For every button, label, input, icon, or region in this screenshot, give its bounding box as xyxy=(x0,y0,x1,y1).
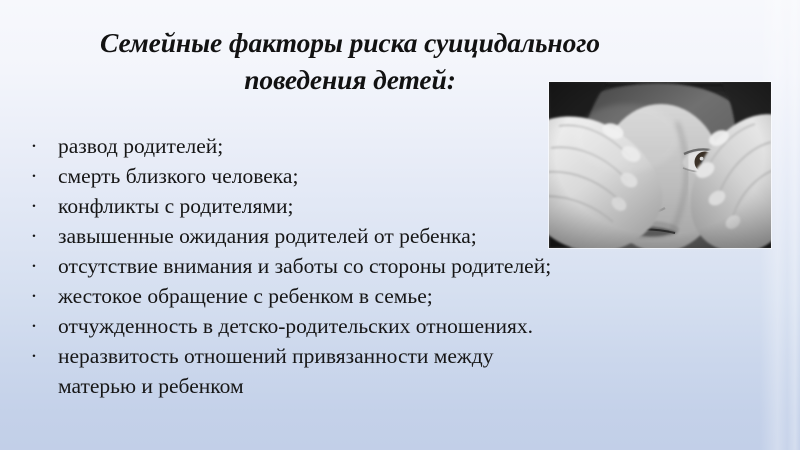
list-item: · жестокое обращение с ребенком в семье; xyxy=(22,281,662,311)
bullet-dot-icon: · xyxy=(29,281,39,311)
child-covering-face-photo xyxy=(549,82,771,248)
bullet-dot-icon: · xyxy=(29,341,39,371)
list-item: · отсутствие внимания и заботы со сторон… xyxy=(22,251,662,281)
list-item: · неразвитость отношений привязанности м… xyxy=(22,341,662,401)
bullet-dot-icon: · xyxy=(29,131,39,161)
list-item-label: конфликты с родителями; xyxy=(58,194,294,218)
bullet-dot-icon: · xyxy=(29,191,39,221)
list-item-label-continuation: матерью и ребенком xyxy=(58,371,662,401)
presentation-slide: Семейные факторы риска суицидального пов… xyxy=(0,0,800,450)
list-item-label: смерть близкого человека; xyxy=(58,164,298,188)
bullet-dot-icon: · xyxy=(29,221,39,251)
bullet-dot-icon: · xyxy=(29,161,39,191)
list-item-label: жестокое обращение с ребенком в семье; xyxy=(58,284,433,308)
list-item-label: отчужденность в детско-родительских отно… xyxy=(58,314,533,338)
list-item-label: неразвитость отношений привязанности меж… xyxy=(58,344,493,368)
list-item: · отчужденность в детско-родительских от… xyxy=(22,311,662,341)
list-item-label: развод родителей; xyxy=(58,134,223,158)
photo-illustration xyxy=(549,82,771,248)
bullet-dot-icon: · xyxy=(29,251,39,281)
bullet-dot-icon: · xyxy=(29,311,39,341)
list-item-label: отсутствие внимания и заботы со стороны … xyxy=(58,254,551,278)
list-item-label: завышенные ожидания родителей от ребенка… xyxy=(58,224,477,248)
slide-title-line-1: Семейные факторы риска суицидального xyxy=(40,24,660,61)
